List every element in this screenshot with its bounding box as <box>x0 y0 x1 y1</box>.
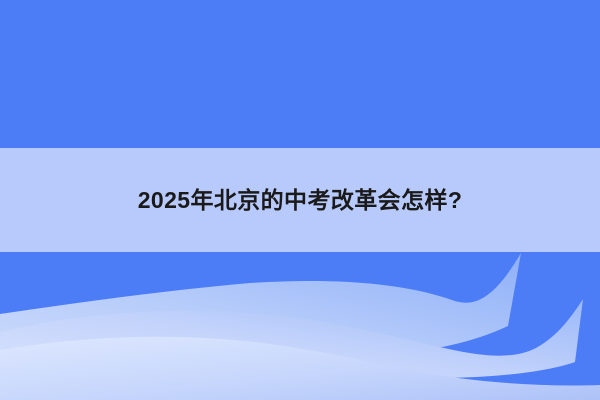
bottom-wave-band <box>0 252 600 400</box>
page-title: 2025年北京的中考改革会怎样? <box>0 148 600 252</box>
top-color-band <box>0 0 600 148</box>
wave-graphic <box>0 252 600 400</box>
banner-image: 2025年北京的中考改革会怎样? <box>0 0 600 400</box>
